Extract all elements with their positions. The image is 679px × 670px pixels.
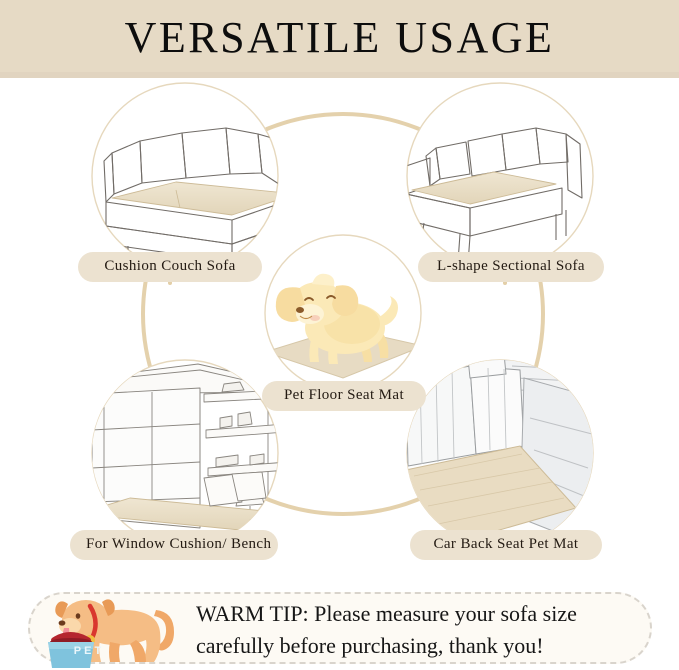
- page-title: VERSATILE USAGE: [0, 8, 679, 68]
- usage-diagram: Cushion Couch Sofa L-shape Sectional Sof…: [0, 78, 679, 578]
- warm-tip-line-2: carefully before purchasing, thank you!: [196, 630, 666, 662]
- label-cushion-couch-sofa[interactable]: Cushion Couch Sofa: [78, 252, 262, 282]
- infographic-page: VERSATILE USAGE: [0, 0, 679, 670]
- node-illustration-pet-floor-seat-mat: [265, 235, 423, 391]
- node-illustration-car-back-seat-pet-mat: [405, 354, 596, 554]
- label-l-shape-sectional-sofa[interactable]: L-shape Sectional Sofa: [418, 252, 604, 282]
- node-illustration-l-shape-sectional-sofa: [406, 83, 593, 269]
- label-car-back-seat-pet-mat[interactable]: Car Back Seat Pet Mat: [410, 530, 602, 560]
- warm-tip-text: WARM TIP: Please measure your sofa size …: [196, 598, 666, 664]
- label-pet-floor-seat-mat[interactable]: Pet Floor Seat Mat: [262, 381, 426, 411]
- label-window-cushion-bench[interactable]: For Window Cushion/ Bench: [70, 530, 278, 560]
- warm-tip-line-1: WARM TIP: Please measure your sofa size: [196, 598, 666, 630]
- diagram-illustrations: [0, 78, 679, 578]
- pet-bowl-text: PET: [56, 645, 122, 657]
- dog-with-bowl-illustration: [28, 592, 198, 670]
